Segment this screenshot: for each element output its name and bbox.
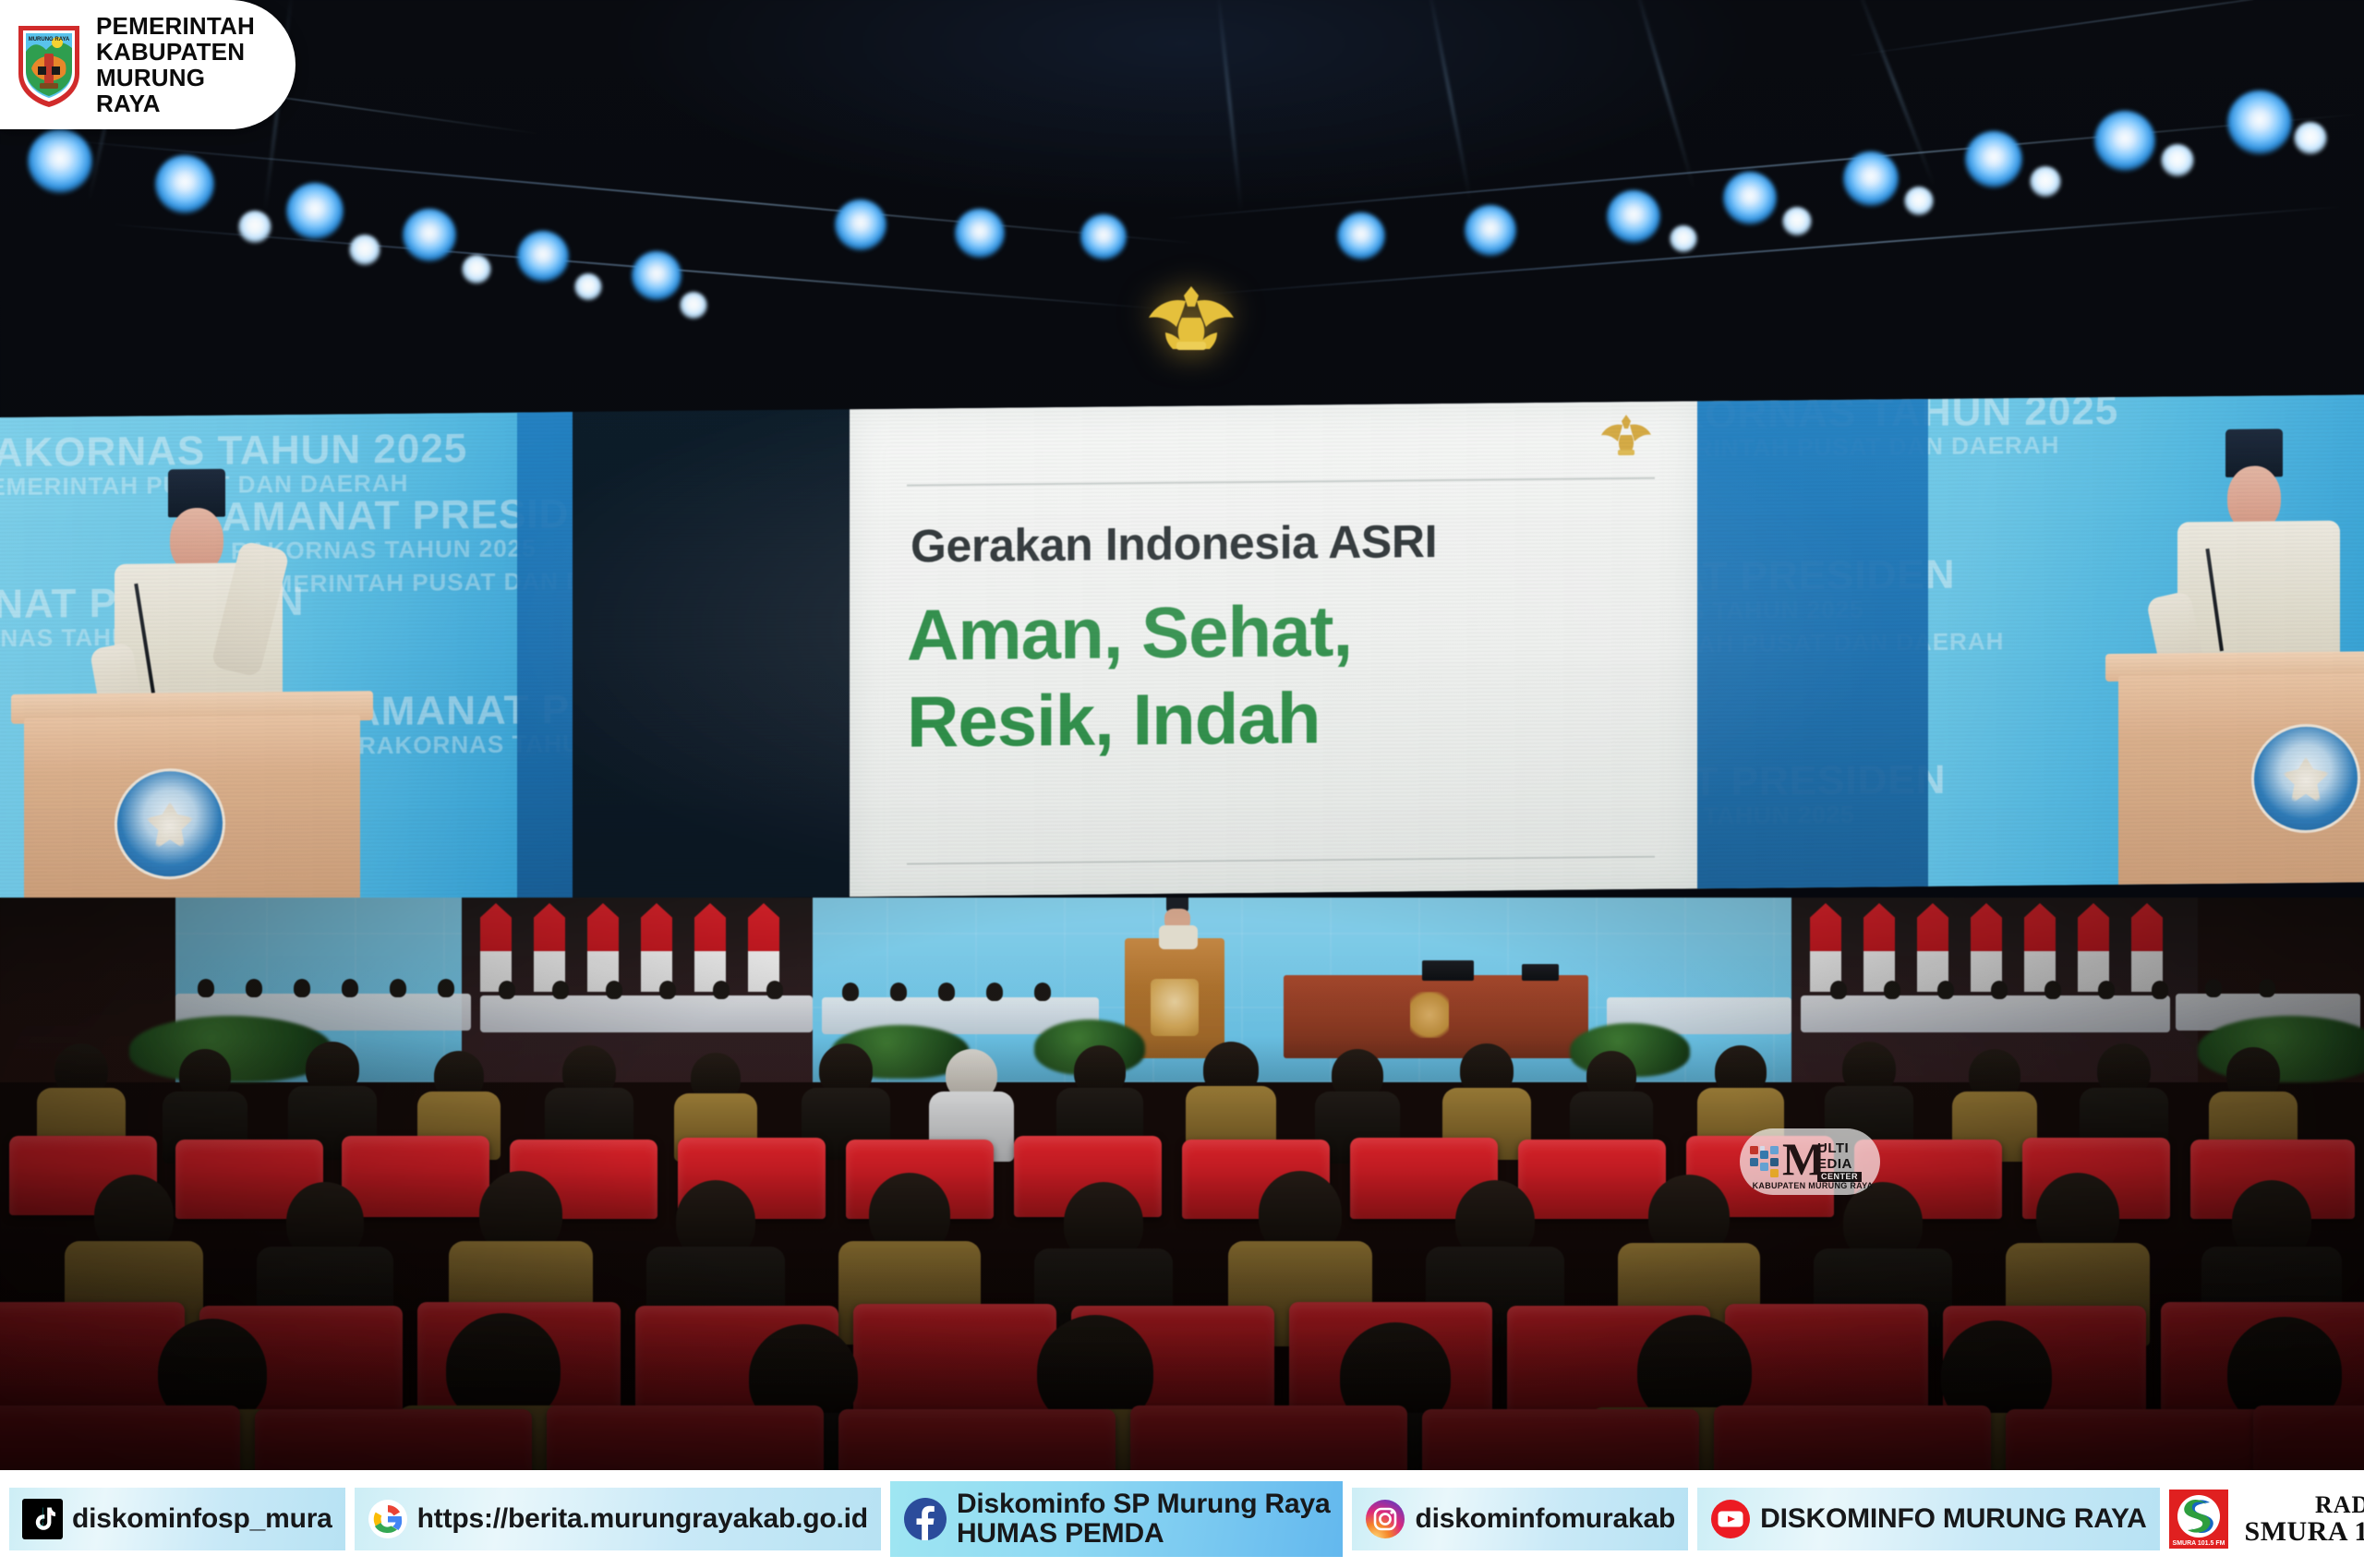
slide-body-line-1: Aman, Sehat, bbox=[907, 595, 1352, 671]
social-chip-youtube[interactable]: DISKOMINFO MURUNG RAYA bbox=[1697, 1488, 2159, 1550]
radio-block: SMURA 101.5 FM RADIO SMURA 101.5 FM bbox=[2169, 1490, 2364, 1549]
conference-hall bbox=[0, 898, 2364, 1470]
government-badge-text: PEMERINTAH KABUPATEN MURUNG RAYA bbox=[96, 13, 271, 116]
svg-text:SMURA 101.5 FM: SMURA 101.5 FM bbox=[2172, 1540, 2225, 1547]
instagram-icon bbox=[1365, 1499, 1405, 1539]
led-panel-left: RAKORNAS TAHUN 2025 PEMERINTAH PUSAT DAN… bbox=[0, 412, 573, 905]
social-label-website: https://berita.murungrayakab.go.id bbox=[417, 1504, 868, 1534]
social-chip-website[interactable]: https://berita.murungrayakab.go.id bbox=[355, 1488, 881, 1550]
watermark-word-edia: EDIA bbox=[1817, 1157, 1852, 1171]
broadcast-frame: RAKORNAS TAHUN 2025 PEMERINTAH PUSAT DAN… bbox=[0, 0, 2364, 1568]
facebook-icon bbox=[903, 1497, 947, 1541]
youtube-icon bbox=[1710, 1499, 1751, 1539]
murung-raya-coat-of-arms-icon: MURUNG RAYA bbox=[15, 20, 83, 109]
watermark-word-ulti: ULTI bbox=[1817, 1141, 1849, 1155]
ceiling-light-truss bbox=[0, 0, 2364, 434]
social-label-tiktok: diskominfosp_mura bbox=[72, 1504, 332, 1534]
slide-divider-top bbox=[907, 477, 1655, 487]
led-panel-right: RAKORNAS TAHUN 2025 PEMERINTAH PUSAT DAN… bbox=[1697, 394, 2364, 888]
social-label-instagram: diskominfomurakab bbox=[1415, 1504, 1675, 1534]
slide-body-line-2: Resik, Indah bbox=[907, 681, 1320, 757]
multimedia-center-watermark: M ULTI EDIA CENTER KABUPATEN MURUNG RAYA bbox=[1740, 1128, 1880, 1195]
slide-divider-bottom bbox=[907, 856, 1655, 865]
google-icon bbox=[368, 1499, 408, 1539]
social-chip-facebook[interactable]: Diskominfo SP Murung Raya HUMAS PEMDA bbox=[890, 1481, 1344, 1557]
tiktok-icon bbox=[22, 1499, 63, 1539]
radio-line-2: SMURA 101.5 FM bbox=[2245, 1517, 2364, 1546]
garuda-podium-seal-icon bbox=[115, 768, 225, 880]
led-watermark-line: RAKORNAS TAHUN 2025 bbox=[0, 428, 467, 475]
social-media-bar: diskominfosp_mura https://berita.murungr… bbox=[0, 1470, 2364, 1568]
svg-text:MURUNG RAYA: MURUNG RAYA bbox=[29, 37, 70, 42]
radio-text: RADIO SMURA 101.5 FM bbox=[2245, 1492, 2364, 1546]
stage-speaker bbox=[1159, 898, 1198, 944]
garuda-pancasila-emblem-icon bbox=[1599, 411, 1653, 460]
led-panel-center-slide: Gerakan Indonesia ASRI Aman, Sehat, Resi… bbox=[850, 401, 1697, 897]
slide-heading: Gerakan Indonesia ASRI bbox=[911, 514, 1437, 573]
radio-smura-logo-icon: SMURA 101.5 FM bbox=[2169, 1490, 2228, 1549]
social-label-facebook: Diskominfo SP Murung Raya HUMAS PEMDA bbox=[957, 1490, 1331, 1549]
government-badge: MURUNG RAYA PEMERINTAH KABUPATEN MURUNG … bbox=[0, 0, 295, 129]
video-frame: RAKORNAS TAHUN 2025 PEMERINTAH PUSAT DAN… bbox=[0, 0, 2364, 1470]
radio-line-1: RADIO bbox=[2245, 1492, 2364, 1517]
social-chip-instagram[interactable]: diskominfomurakab bbox=[1352, 1488, 1688, 1550]
led-video-wall: RAKORNAS TAHUN 2025 PEMERINTAH PUSAT DAN… bbox=[0, 394, 2364, 905]
garuda-podium-seal-icon bbox=[2251, 723, 2360, 833]
garuda-pancasila-emblem-icon bbox=[1145, 277, 1237, 356]
watermark-subtitle: KABUPATEN MURUNG RAYA bbox=[1751, 1181, 1875, 1190]
social-label-youtube: DISKOMINFO MURUNG RAYA bbox=[1760, 1504, 2146, 1534]
audience-seating bbox=[0, 1036, 2364, 1470]
social-chip-tiktok[interactable]: diskominfosp_mura bbox=[9, 1488, 345, 1550]
